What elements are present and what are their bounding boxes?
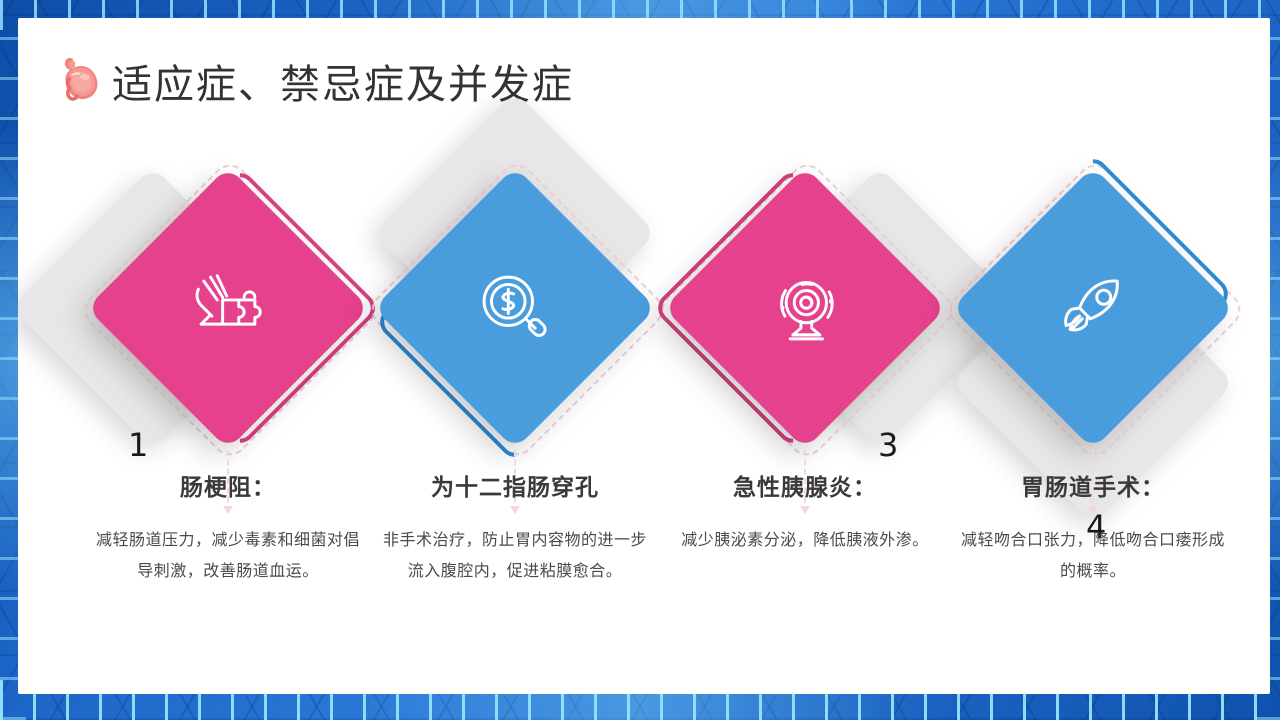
- slide-header: 适应症、禁忌症及并发症: [56, 52, 574, 110]
- diamond-group-3: 3: [655, 168, 955, 448]
- caption-title-1: 肠梗阻：: [78, 468, 378, 502]
- rocket-icon: [1050, 265, 1136, 351]
- slide-stage: 适应症、禁忌症及并发症 1: [0, 0, 1280, 720]
- step-number-3: 3: [878, 426, 898, 464]
- caption-title-4: 胃肠道手术：: [943, 468, 1243, 502]
- caption-body-3: 减少胰泌素分泌，降低胰液外渗。: [655, 524, 955, 555]
- magnifier-dollar-icon: [472, 265, 558, 351]
- caption-body-4: 减轻吻合口张力，降低吻合口瘘形成的概率。: [943, 524, 1243, 586]
- caption-1: 肠梗阻： 减轻肠道压力，减少毒素和细菌对倡导刺激，改善肠道血运。: [78, 468, 378, 586]
- stomach-icon: [56, 55, 102, 107]
- item-column-2: 2: [365, 168, 665, 688]
- diamond-group-1: 1: [78, 168, 378, 448]
- caption-4: 胃肠道手术： 减轻吻合口张力，降低吻合口瘘形成的概率。: [943, 468, 1243, 586]
- item-column-4: 4: [943, 168, 1243, 688]
- caption-3: 急性胰腺炎： 减少胰泌素分泌，降低胰液外渗。: [655, 468, 955, 555]
- item-column-1: 1: [78, 168, 378, 688]
- caption-2: 为十二指肠穿孔 非手术治疗，防止胃内容物的进一步流入腹腔内，促进粘膜愈合。: [365, 468, 665, 586]
- caption-title-3: 急性胰腺炎：: [655, 468, 955, 502]
- caption-body-1: 减轻肠道压力，减少毒素和细菌对倡导刺激，改善肠道血运。: [78, 524, 378, 586]
- diamond-group-2: 2: [365, 168, 665, 448]
- step-number-1: 1: [128, 426, 148, 464]
- item-column-3: 3: [655, 168, 955, 688]
- slide-card: 适应症、禁忌症及并发症 1: [18, 18, 1270, 694]
- diamond-group-4: 4: [943, 168, 1243, 448]
- hand-puzzle-icon: [185, 265, 271, 351]
- caption-body-2: 非手术治疗，防止胃内容物的进一步流入腹腔内，促进粘膜愈合。: [365, 524, 665, 586]
- webcam-icon: [762, 265, 848, 351]
- caption-title-2: 为十二指肠穿孔: [365, 468, 665, 502]
